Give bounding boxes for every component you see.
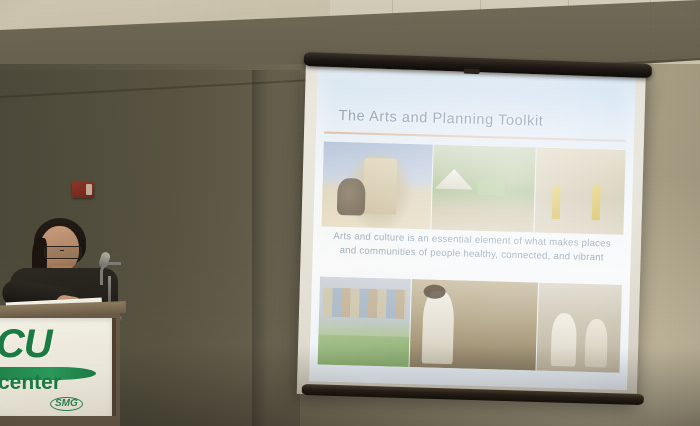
slide-photo-street-festival-banners bbox=[535, 147, 626, 234]
slide-body-text: Arts and culture is an essential element… bbox=[325, 230, 620, 266]
dcu-logo-center-text: center bbox=[0, 372, 61, 393]
presentation-photo-scene: The Arts and Planning Toolkit Arts and c… bbox=[0, 0, 700, 426]
slide-collage-top bbox=[321, 142, 625, 235]
eyeglasses-icon bbox=[44, 246, 82, 259]
screen-mount-bracket bbox=[464, 69, 480, 75]
slide-title: The Arts and Planning Toolkit bbox=[338, 108, 543, 130]
slide-photo-sand-sculpture-beach bbox=[321, 142, 432, 230]
smg-logo-text: SMG bbox=[50, 397, 83, 411]
dcu-logo-text: DCU bbox=[0, 324, 52, 364]
podium-venue-sign: DCU center SMG bbox=[0, 318, 116, 416]
slide-photo-outdoor-market-tents bbox=[431, 145, 536, 233]
projected-slide: The Arts and Planning Toolkit Arts and c… bbox=[309, 69, 636, 390]
slide-title-rule bbox=[324, 132, 626, 142]
